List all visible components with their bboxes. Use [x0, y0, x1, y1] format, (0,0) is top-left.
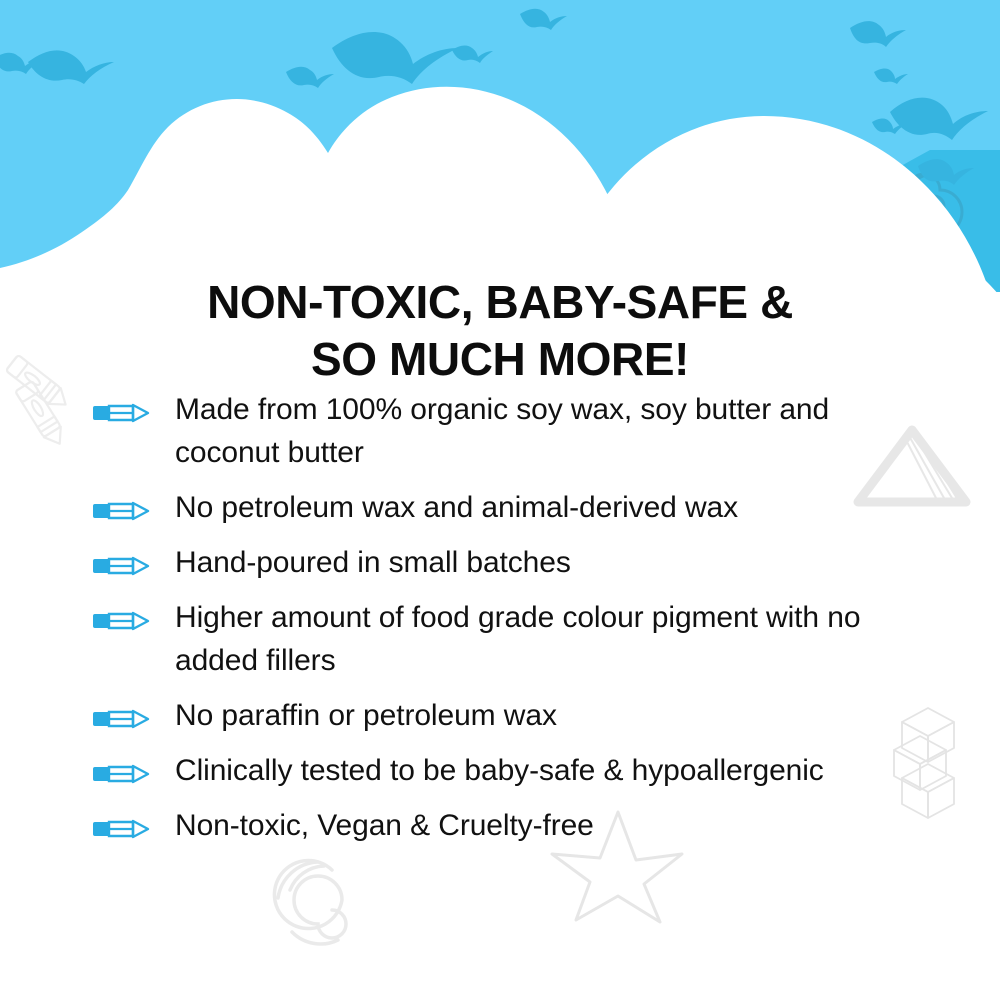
feature-text: Hand-poured in small batches: [175, 541, 571, 584]
feature-text: Higher amount of food grade colour pigme…: [175, 596, 893, 682]
feature-text: No paraffin or petroleum wax: [175, 694, 557, 737]
pencil-icon: [93, 814, 151, 844]
list-item: Non-toxic, Vegan & Cruelty-free: [93, 804, 893, 847]
feature-text: No petroleum wax and animal-derived wax: [175, 486, 738, 529]
pencil-icon: [93, 704, 151, 734]
sky-illustration: [0, 0, 1000, 300]
feature-text: Made from 100% organic soy wax, soy butt…: [175, 388, 893, 474]
feature-list: Made from 100% organic soy wax, soy butt…: [93, 388, 893, 847]
pencil-icon: [93, 496, 151, 526]
pencil-icon: [93, 398, 151, 428]
list-item: Higher amount of food grade colour pigme…: [93, 596, 893, 682]
list-item: No petroleum wax and animal-derived wax: [93, 486, 893, 529]
feature-text: Clinically tested to be baby-safe & hypo…: [175, 749, 824, 792]
page-title: NON-TOXIC, BABY-SAFE & SO MUCH MORE!: [0, 274, 1000, 388]
list-item: Made from 100% organic soy wax, soy butt…: [93, 388, 893, 474]
list-item: No paraffin or petroleum wax: [93, 694, 893, 737]
pencil-icon: [93, 759, 151, 789]
pencil-icon: [93, 606, 151, 636]
sky-banner: [0, 0, 1000, 300]
pencil-icon: [93, 551, 151, 581]
list-item: Clinically tested to be baby-safe & hypo…: [93, 749, 893, 792]
feature-text: Non-toxic, Vegan & Cruelty-free: [175, 804, 594, 847]
spiral-icon: [262, 848, 366, 952]
poster-canvas: NON-TOXIC, BABY-SAFE & SO MUCH MORE! Mad…: [0, 0, 1000, 1000]
list-item: Hand-poured in small batches: [93, 541, 893, 584]
